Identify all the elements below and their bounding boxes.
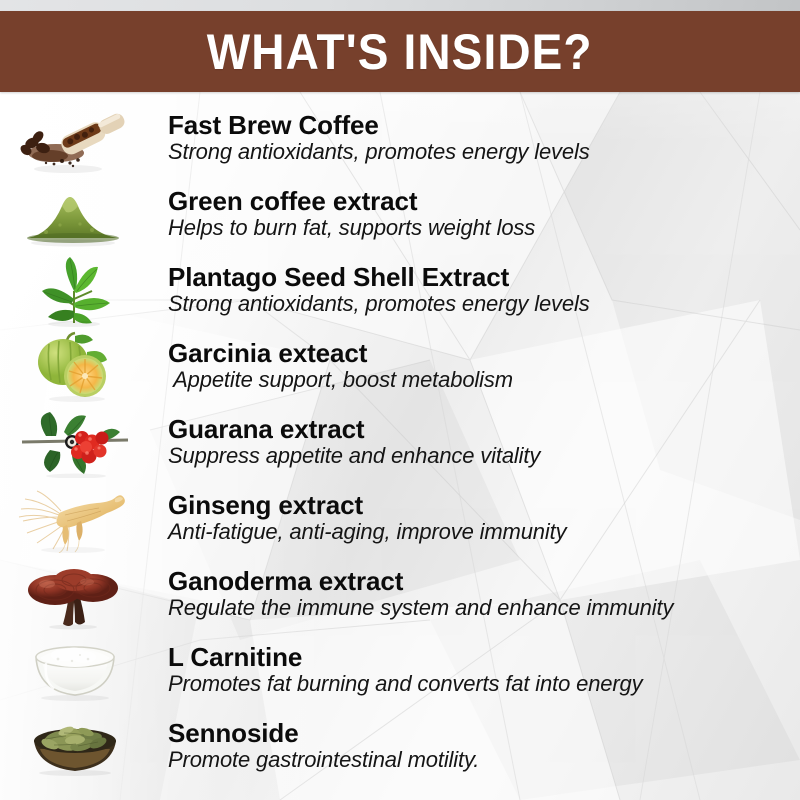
item-text: Green coffee extract Helps to burn fat, … [150, 187, 800, 241]
item-text: Garcinia exteact Appetite support, boost… [150, 339, 800, 393]
list-item: Sennoside Promote gastrointestinal motil… [0, 708, 800, 784]
ingredient-name: L Carnitine [168, 643, 800, 671]
item-text: Fast Brew Coffee Strong antioxidants, pr… [150, 111, 800, 165]
garcinia-fruit-icon [0, 328, 150, 404]
list-item: Fast Brew Coffee Strong antioxidants, pr… [0, 100, 800, 176]
ingredient-list: Fast Brew Coffee Strong antioxidants, pr… [0, 92, 800, 800]
item-text: L Carnitine Promotes fat burning and con… [150, 643, 800, 697]
header-band: WHAT'S INSIDE? [0, 11, 800, 92]
item-text: Plantago Seed Shell Extract Strong antio… [150, 263, 800, 317]
ingredient-name: Plantago Seed Shell Extract [168, 263, 800, 291]
white-powder-bowl-icon [0, 632, 150, 708]
ingredient-benefit: Promote gastrointestinal motility. [168, 748, 800, 773]
ganoderma-mushroom-icon [0, 556, 150, 632]
ginseng-root-icon [0, 480, 150, 556]
ingredient-name: Sennoside [168, 719, 800, 747]
top-strip [0, 0, 800, 11]
ingredient-name: Ginseng extract [168, 491, 800, 519]
list-item: Ganoderma extract Regulate the immune sy… [0, 556, 800, 632]
ingredient-name: Ganoderma extract [168, 567, 800, 595]
green-leaves-sprig-icon [0, 252, 150, 328]
ingredient-benefit: Suppress appetite and enhance vitality [168, 444, 800, 469]
list-item: L Carnitine Promotes fat burning and con… [0, 632, 800, 708]
ingredient-benefit: Regulate the immune system and enhance i… [168, 596, 800, 621]
ingredient-benefit: Strong antioxidants, promotes energy lev… [168, 292, 800, 317]
ingredient-benefit: Appetite support, boost metabolism [168, 368, 800, 393]
infographic-page: WHAT'S INSIDE? [0, 0, 800, 800]
ingredient-name: Guarana extract [168, 415, 800, 443]
guarana-berry-branch-icon [0, 404, 150, 480]
list-item: Guarana extract Suppress appetite and en… [0, 404, 800, 480]
coffee-scoop-icon [0, 100, 150, 176]
list-item: Garcinia exteact Appetite support, boost… [0, 328, 800, 404]
ingredient-name: Green coffee extract [168, 187, 800, 215]
list-item: Plantago Seed Shell Extract Strong antio… [0, 252, 800, 328]
ingredient-benefit: Strong antioxidants, promotes energy lev… [168, 140, 800, 165]
ingredient-name: Garcinia exteact [168, 339, 800, 367]
item-text: Ganoderma extract Regulate the immune sy… [150, 567, 800, 621]
senna-leaves-bowl-icon [0, 708, 150, 784]
list-item: Ginseng extract Anti-fatigue, anti-aging… [0, 480, 800, 556]
ingredient-benefit: Promotes fat burning and converts fat in… [168, 672, 800, 697]
ingredient-benefit: Anti-fatigue, anti-aging, improve immuni… [168, 520, 800, 545]
list-item: Green coffee extract Helps to burn fat, … [0, 176, 800, 252]
item-text: Sennoside Promote gastrointestinal motil… [150, 719, 800, 773]
green-powder-mound-icon [0, 176, 150, 252]
page-title: WHAT'S INSIDE? [207, 27, 593, 77]
item-text: Ginseng extract Anti-fatigue, anti-aging… [150, 491, 800, 545]
item-text: Guarana extract Suppress appetite and en… [150, 415, 800, 469]
ingredient-benefit: Helps to burn fat, supports weight loss [168, 216, 800, 241]
ingredient-name: Fast Brew Coffee [168, 111, 800, 139]
